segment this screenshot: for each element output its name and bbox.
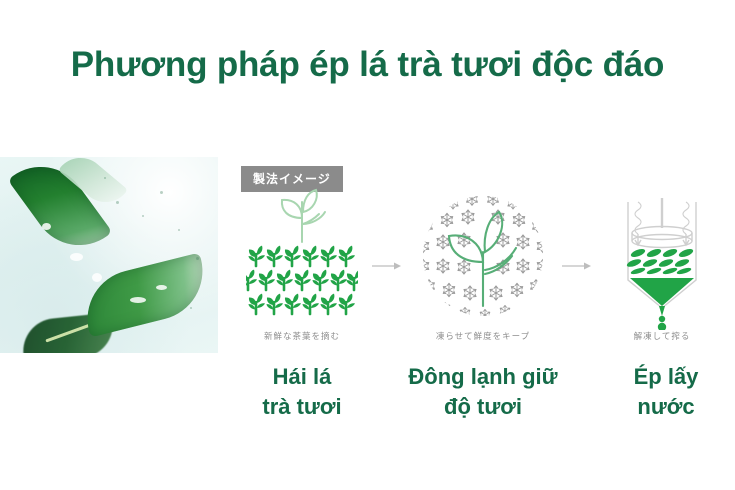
process-step-freeze: 凍らせて鮮度をキープ	[404, 188, 562, 353]
tea-field-rows-icon	[246, 244, 358, 322]
caption-step-press: Ép lấy nước	[586, 362, 735, 421]
caption-press-line1: Ép lấy	[586, 362, 735, 392]
caption-step-harvest: Hái lá trà tươi	[220, 362, 384, 421]
step-captions: Hái lá trà tươi Đông lạnh giữ độ tươi Ép…	[232, 362, 735, 442]
jp-caption-harvest: 新鮮な茶葉を摘む	[232, 330, 372, 342]
step-art-freeze	[404, 188, 562, 328]
ice-speck	[142, 215, 144, 217]
step-art-press	[592, 188, 732, 328]
page-title: Phương pháp ép lá trà tươi độc đáo	[0, 46, 735, 85]
caption-freeze-line1: Đông lạnh giữ	[380, 362, 586, 392]
ice-speck	[160, 191, 163, 194]
caption-press-line2: nước	[586, 392, 735, 422]
snowflake-sphere-leaf-icon	[417, 190, 549, 322]
jp-caption-press: 解凍して搾る	[592, 330, 732, 342]
arrow-right-icon-1	[372, 260, 402, 272]
ice-speck	[116, 201, 119, 204]
press-extractor-icon	[614, 188, 710, 330]
process-diagram: 製法イメージ	[232, 160, 735, 355]
ice-speck	[196, 257, 199, 260]
tea-sprout-outline-icon	[273, 188, 331, 246]
process-step-harvest: 新鮮な茶葉を摘む	[232, 188, 372, 353]
ice-speck	[104, 177, 106, 179]
step-art-harvest	[232, 188, 372, 328]
frost-fleck	[156, 285, 167, 290]
frozen-tea-leaves-photo	[0, 157, 218, 353]
process-step-press: 解凍して搾る	[592, 188, 732, 353]
frost-fleck	[92, 273, 102, 282]
arrow-right-icon-2	[562, 260, 592, 272]
caption-step-freeze: Đông lạnh giữ độ tươi	[380, 362, 586, 421]
frost-fleck	[70, 253, 83, 261]
caption-harvest-line2: trà tươi	[220, 392, 384, 422]
ice-speck	[178, 229, 180, 231]
caption-freeze-line2: độ tươi	[380, 392, 586, 422]
jp-caption-freeze: 凍らせて鮮度をキープ	[404, 330, 562, 342]
frost-fleck	[42, 223, 51, 230]
caption-harvest-line1: Hái lá	[220, 362, 384, 392]
frost-fleck	[130, 297, 146, 303]
ice-speck	[190, 307, 192, 309]
